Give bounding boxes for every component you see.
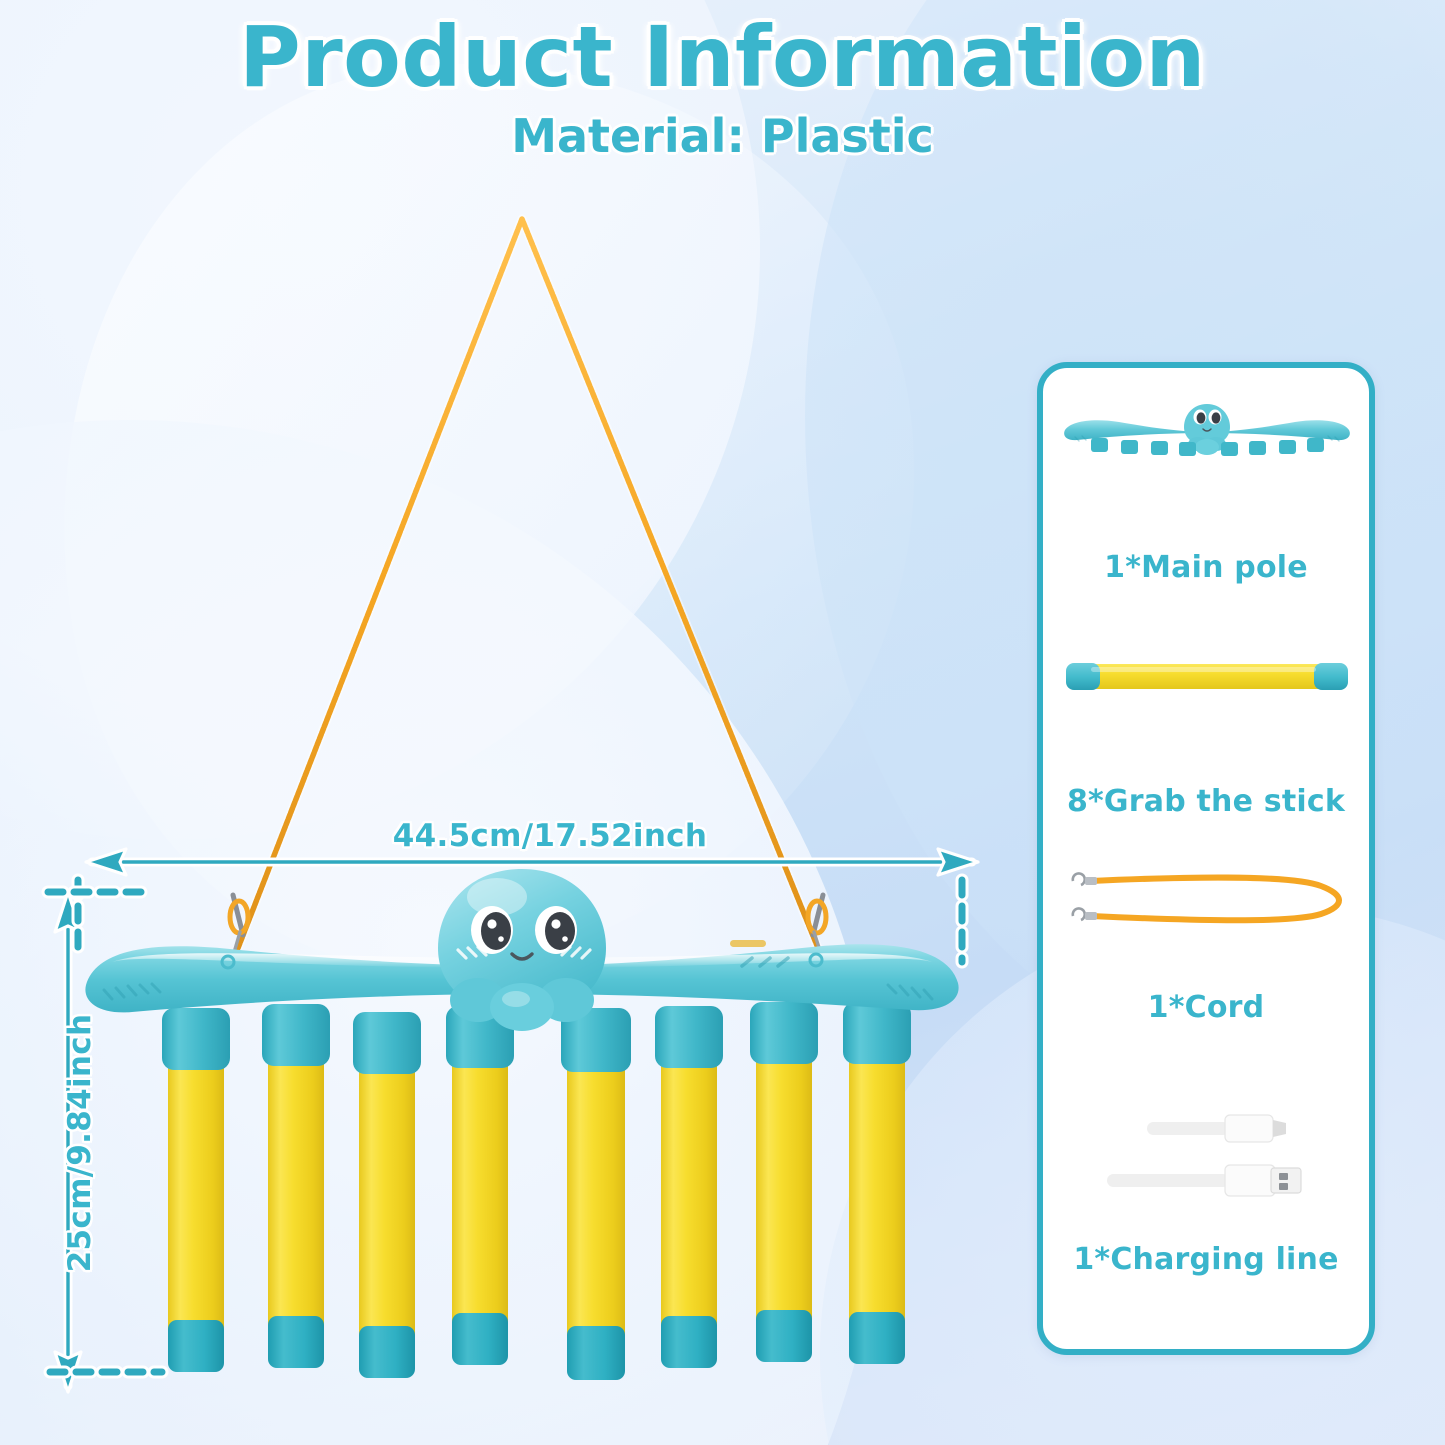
width-dimension-label: 44.5cm/17.52inch <box>330 818 770 854</box>
main-pole-bar <box>85 940 958 1012</box>
octopus-main-pole-image <box>1057 396 1357 476</box>
pole-left-ridges <box>104 984 160 999</box>
micro-usb-connector <box>1147 1115 1286 1142</box>
cord-clip-left <box>222 895 249 973</box>
grab-stick <box>446 1006 514 1365</box>
octopus-blush <box>458 947 590 958</box>
hanging-cord-illustration <box>222 219 833 973</box>
octopus-eyes <box>471 906 577 954</box>
grab-stick <box>162 1008 230 1372</box>
grab-stick <box>655 1006 723 1368</box>
product-information-infographic: Product Information Material: Plastic <box>0 0 1445 1445</box>
grab-sticks-group <box>162 1002 911 1380</box>
octopus-mouth <box>512 954 532 959</box>
grab-stick <box>843 1002 911 1364</box>
usb-charging-cable-image <box>1067 1102 1355 1228</box>
parts-list-card: 1*Main pole 8*Grab the stick <box>1037 362 1375 1355</box>
part-label-charging-line: 1*Charging line <box>1043 1242 1369 1277</box>
orange-cord-image <box>1059 864 1355 934</box>
dimension-guides <box>48 849 978 1392</box>
background-swoosh-bottom-left <box>0 420 880 1445</box>
grab-stick <box>262 1004 330 1368</box>
dimension-dashed-lines <box>48 880 962 1372</box>
height-dimension-label: 25cm/9.84inch <box>62 983 98 1303</box>
material-subtitle: Material: Plastic <box>0 109 1445 163</box>
pole-sticker <box>730 940 766 947</box>
header-block: Product Information Material: Plastic <box>0 14 1445 163</box>
grab-stick <box>561 1008 631 1380</box>
yellow-grab-stick-image <box>1061 654 1353 698</box>
cord-eyelet-left <box>222 956 234 968</box>
grab-stick <box>750 1002 818 1362</box>
octopus-head <box>438 869 606 1031</box>
pole-vent-slots <box>742 958 788 966</box>
usb-a-connector <box>1107 1165 1301 1196</box>
octopus-tentacle-bumps <box>450 978 594 1031</box>
grab-stick <box>353 1012 421 1378</box>
part-label-main-pole: 1*Main pole <box>1043 550 1369 585</box>
cord-clip-right <box>808 895 833 970</box>
part-label-grab-stick: 8*Grab the stick <box>1043 784 1369 819</box>
head-highlight <box>467 878 527 916</box>
pole-right-ridges <box>888 985 932 999</box>
cord-eyelet-right <box>810 954 822 966</box>
part-label-cord: 1*Cord <box>1043 990 1369 1025</box>
page-title: Product Information <box>0 14 1445 101</box>
